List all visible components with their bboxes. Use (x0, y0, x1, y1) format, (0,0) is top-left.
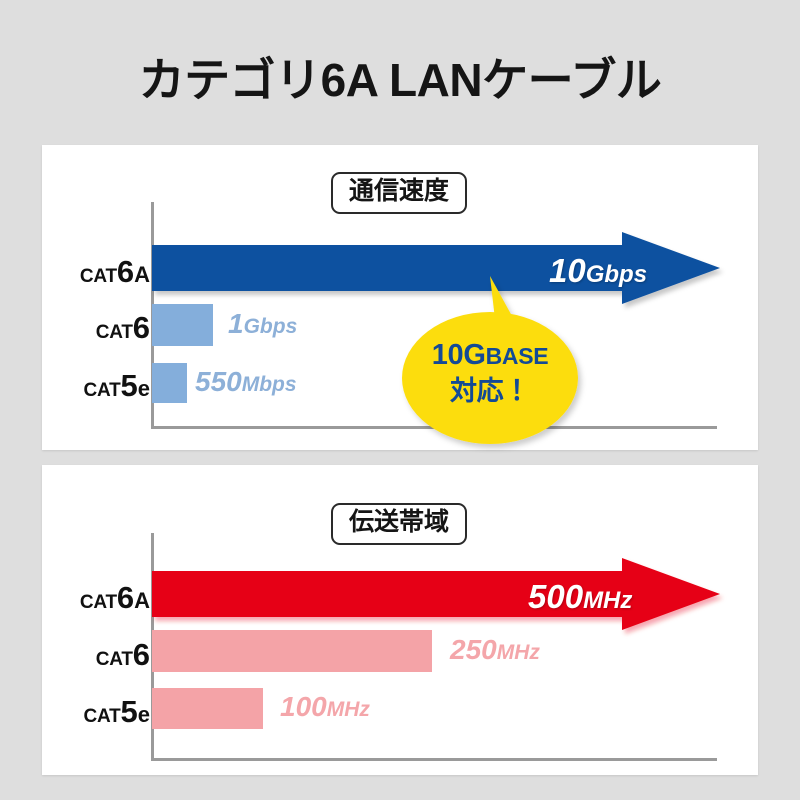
cat-number: 6 (133, 637, 150, 672)
value-number: 550 (195, 366, 242, 397)
callout-10gbase: 10GBASE 対応！ (400, 276, 580, 446)
value-unit: Gbps (586, 261, 647, 288)
callout-text: 10GBASE 対応！ (400, 338, 580, 408)
speed-value-cat6: 1Gbps (228, 308, 297, 340)
bandwidth-category-label-cat5e: CAT5e (58, 694, 150, 730)
value-number: 250 (450, 634, 497, 665)
cat-prefix: CAT (80, 266, 117, 287)
bandwidth-chart-x-axis (151, 758, 717, 761)
bandwidth-category-label-cat6a: CAT6A (58, 580, 150, 616)
value-unit: Mbps (242, 373, 297, 396)
page-title: カテゴリ6A LANケーブル (0, 44, 800, 110)
speed-bar-cat5e (152, 363, 187, 403)
value-number: 1 (228, 308, 244, 339)
cat-number: 5 (121, 694, 138, 729)
speed-value-cat5e: 550Mbps (195, 366, 297, 398)
cat-prefix: CAT (96, 649, 133, 670)
cat-suffix: e (138, 376, 150, 401)
speed-category-label-cat6a: CAT6A (58, 254, 150, 290)
speed-section-title: 通信速度 (331, 172, 467, 214)
cat-prefix: CAT (83, 380, 120, 401)
cat-prefix: CAT (80, 592, 117, 613)
bandwidth-value-cat6a: 500MHz (528, 578, 632, 616)
cat-number: 6 (117, 580, 134, 615)
cat-prefix: CAT (96, 322, 133, 343)
bandwidth-bar-cat6 (152, 630, 432, 672)
value-unit: Gbps (244, 315, 298, 338)
value-unit: MHz (327, 698, 370, 721)
value-unit: MHz (497, 641, 540, 664)
cat-suffix: e (138, 702, 150, 727)
cat-prefix: CAT (83, 706, 120, 727)
bandwidth-bar-cat6a-arrow (152, 558, 720, 630)
value-number: 100 (280, 691, 327, 722)
bandwidth-category-label-cat6: CAT6 (58, 637, 150, 673)
bandwidth-value-cat5e: 100MHz (280, 691, 370, 723)
speed-bar-cat6 (152, 304, 213, 346)
cat-suffix: A (134, 262, 150, 287)
speed-category-label-cat6: CAT6 (58, 310, 150, 346)
value-unit: MHz (583, 587, 632, 614)
callout-line2: 対応！ (400, 375, 580, 408)
callout-line1-big: 10G (432, 339, 486, 371)
bandwidth-bar-cat5e (152, 688, 263, 729)
cat-number: 5 (121, 368, 138, 403)
speed-category-label-cat5e: CAT5e (58, 368, 150, 404)
bandwidth-value-cat6: 250MHz (450, 634, 540, 666)
cat-number: 6 (117, 254, 134, 289)
callout-line1-small: BASE (486, 343, 549, 369)
cat-number: 6 (133, 310, 150, 345)
bandwidth-section-title: 伝送帯域 (331, 503, 467, 545)
cat-suffix: A (134, 588, 150, 613)
value-number: 500 (528, 578, 583, 615)
